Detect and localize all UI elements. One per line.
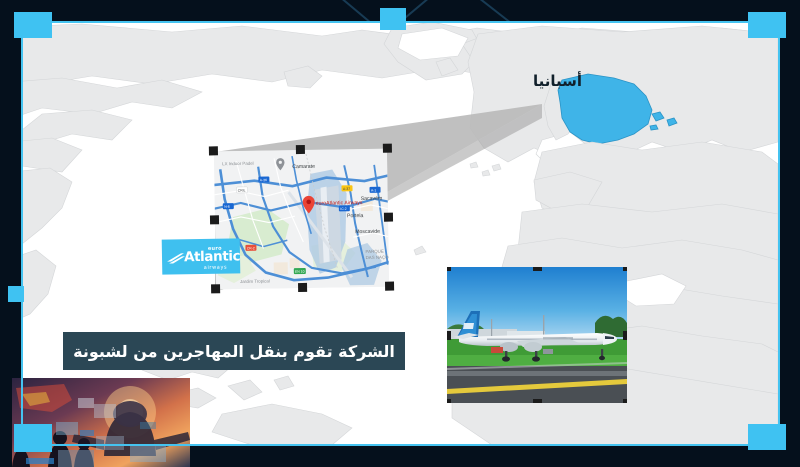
photo-handle-w[interactable]: [447, 331, 451, 340]
photo-handle-s[interactable]: [533, 399, 542, 403]
frame-edge-bottom: [22, 444, 779, 446]
svg-text:N-8: N-8: [224, 205, 230, 209]
road-shield-a-n: A-1: [370, 187, 381, 193]
resize-handle-n[interactable]: [296, 145, 305, 154]
svg-text:CRIL: CRIL: [238, 188, 246, 192]
svg-text:A-36: A-36: [260, 178, 267, 182]
photo-handle-sw[interactable]: [447, 399, 451, 403]
corner-thumbnail[interactable]: [12, 378, 190, 467]
logo-airways: airways: [204, 264, 228, 270]
accent-square-top-center: [380, 8, 406, 30]
svg-text:euroAtlantic Airways: euroAtlantic Airways: [316, 200, 363, 207]
accent-square-top-right: [748, 12, 786, 38]
svg-text:Portela: Portela: [347, 213, 364, 219]
accent-square-bottom-right: [748, 424, 786, 450]
photo-handle-e[interactable]: [623, 331, 627, 340]
road-shield-cr2: CR-2: [245, 245, 256, 251]
resize-handle-sw[interactable]: [211, 284, 220, 293]
slide-stage: أسبانيا: [0, 0, 800, 467]
svg-text:Jardim Tropical: Jardim Tropical: [240, 279, 270, 284]
spain-label: أسبانيا: [533, 72, 582, 90]
corner-thumbnail-image: [12, 378, 190, 467]
svg-text:EN 10: EN 10: [295, 270, 305, 274]
aircraft-photo[interactable]: [447, 267, 627, 403]
road-shield-en10: EN 10: [294, 268, 306, 274]
svg-text:DAS NAÇÕES: DAS NAÇÕES: [366, 255, 389, 260]
accent-square-bottom-left: [14, 424, 52, 452]
logo-atlantic: Atlantic: [184, 248, 240, 265]
frame-edge-left: [21, 21, 23, 445]
photo-handle-nw[interactable]: [447, 267, 451, 271]
lower-third-caption: الشركة تقوم بنقل المهاجرين من لشبونة: [63, 332, 405, 370]
resize-handle-ne[interactable]: [383, 144, 392, 153]
resize-handle-nw[interactable]: [209, 146, 218, 155]
photo-handle-ne[interactable]: [623, 267, 627, 271]
photo-handle-se[interactable]: [623, 399, 627, 403]
resize-handle-se[interactable]: [385, 282, 394, 291]
frame-edge-right: [778, 21, 780, 445]
photo-handle-n[interactable]: [533, 267, 542, 271]
resize-handle-e[interactable]: [384, 213, 393, 222]
road-shield-n8: N-8: [223, 203, 234, 209]
resize-handle-s[interactable]: [298, 283, 307, 292]
svg-text:Camarate: Camarate: [292, 164, 315, 170]
road-shield-a37: A-37: [341, 185, 352, 191]
svg-text:Sacavém: Sacavém: [361, 196, 383, 202]
caption-text: الشركة تقوم بنقل المهاجرين من لشبونة: [73, 342, 395, 361]
svg-text:PARQUE: PARQUE: [365, 249, 383, 254]
aircraft-photo-image: [447, 267, 627, 403]
svg-text:Moscavide: Moscavide: [355, 229, 380, 235]
accent-square-mid-left: [8, 286, 24, 302]
resize-handle-w[interactable]: [210, 215, 219, 224]
road-shield-cril: CRIL: [236, 187, 247, 193]
svg-text:CR-2: CR-2: [247, 246, 255, 250]
svg-text:IC-2: IC-2: [340, 207, 347, 211]
swoosh-icon: [167, 252, 185, 264]
svg-text:LX Indoor Padel: LX Indoor Padel: [222, 161, 254, 166]
svg-text:A-1: A-1: [371, 188, 376, 192]
accent-square-top-left: [14, 12, 52, 38]
euroatlantic-logo[interactable]: euro Atlantic airways: [162, 238, 241, 274]
svg-text:A-37: A-37: [343, 187, 350, 191]
road-shield-a36: A-36: [258, 177, 269, 183]
